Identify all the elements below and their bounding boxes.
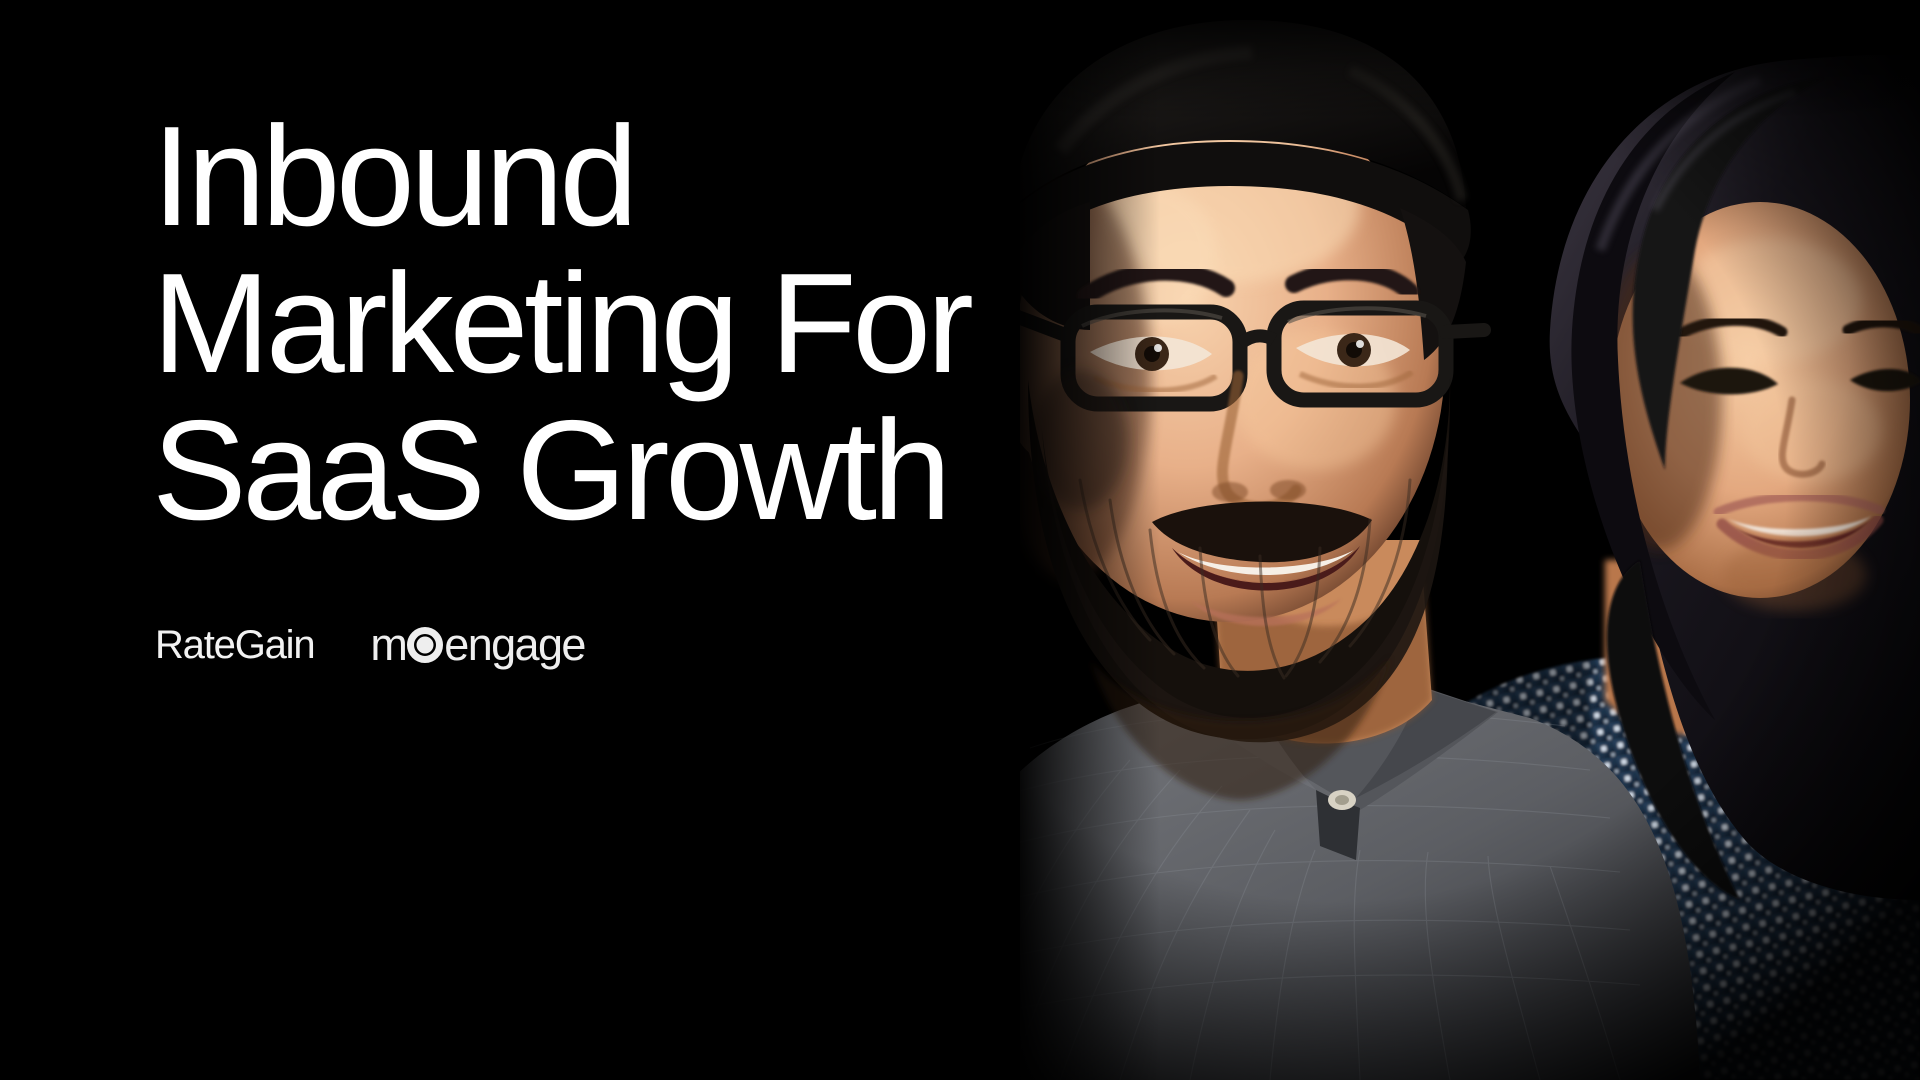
rategain-logo: RateGain bbox=[155, 625, 314, 665]
moengage-logo-text-lead: m bbox=[370, 622, 406, 667]
title-card: Inbound Marketing For SaaS Growth RateGa… bbox=[0, 0, 1920, 1080]
moengage-o-mark-icon bbox=[407, 627, 443, 663]
headline-line-2: Marketing For bbox=[152, 250, 1112, 397]
moengage-logo-text-tail: engage bbox=[444, 622, 585, 667]
moengage-logo: m engage bbox=[370, 622, 584, 667]
page-title: Inbound Marketing For SaaS Growth bbox=[152, 103, 1112, 544]
headline-line-1: Inbound bbox=[152, 103, 1112, 250]
headline-line-3: SaaS Growth bbox=[152, 397, 1112, 544]
rategain-logo-text: RateGain bbox=[155, 625, 314, 665]
partner-logos: RateGain m engage bbox=[155, 622, 585, 667]
